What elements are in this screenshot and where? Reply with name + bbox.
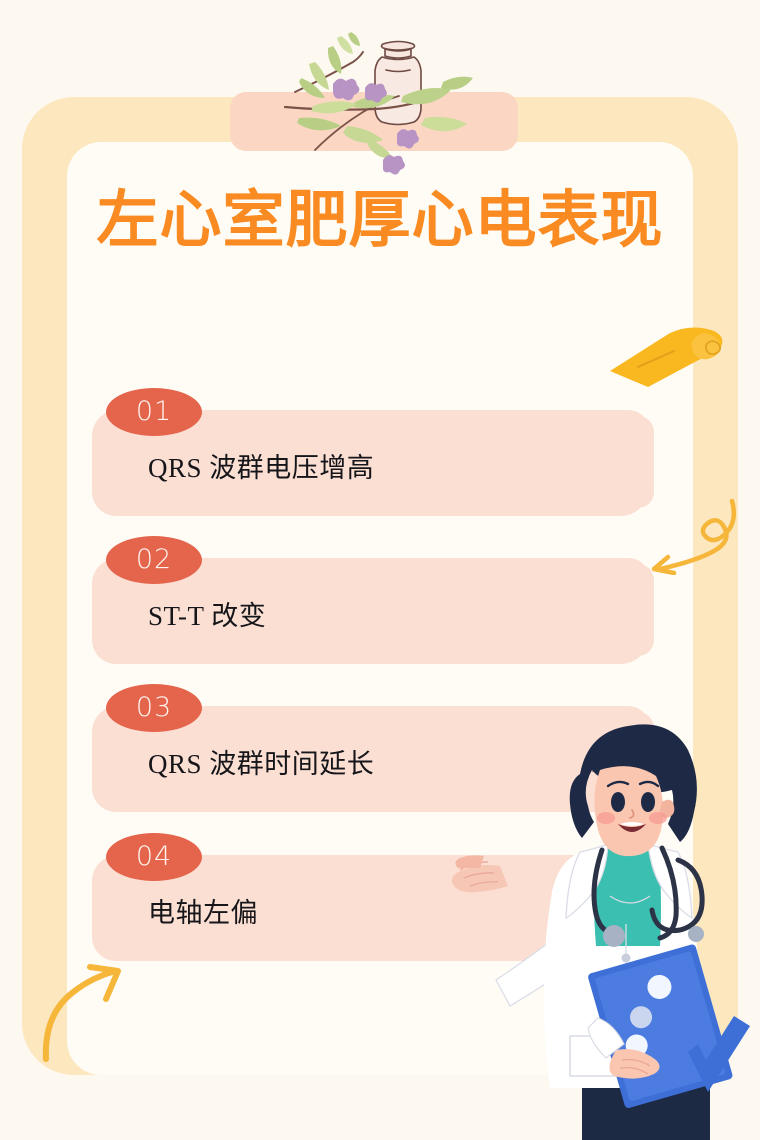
list-item-label: 电轴左偏 xyxy=(148,891,258,930)
female-doctor-illustration xyxy=(430,718,760,1140)
list-item-label: ST-T 改变 xyxy=(148,594,266,633)
list-item-label: QRS 波群电压增高 xyxy=(148,446,374,485)
page-title: 左心室肥厚心电表现 xyxy=(0,189,760,251)
list-item-label: QRS 波群时间延长 xyxy=(148,742,374,781)
curved-arrow-up-right-icon xyxy=(28,955,148,1065)
list-item-number-badge: 04 xyxy=(106,833,202,881)
curly-arrow-down-left-icon xyxy=(636,495,746,575)
list-item-number-badge: 01 xyxy=(106,388,202,436)
list-item[interactable]: 01 QRS 波群电压增高 xyxy=(92,388,650,516)
poster-canvas: 左心室肥厚心电表现 01 QRS 波群电压增高 02 ST-T 改变 xyxy=(0,0,760,1140)
list-item-number-badge: 02 xyxy=(106,536,202,584)
list-item-number-badge: 03 xyxy=(106,684,202,732)
list-item[interactable]: 02 ST-T 改变 xyxy=(92,536,650,664)
rolled-paper-icon xyxy=(608,325,738,395)
botanical-illustration xyxy=(255,22,505,182)
